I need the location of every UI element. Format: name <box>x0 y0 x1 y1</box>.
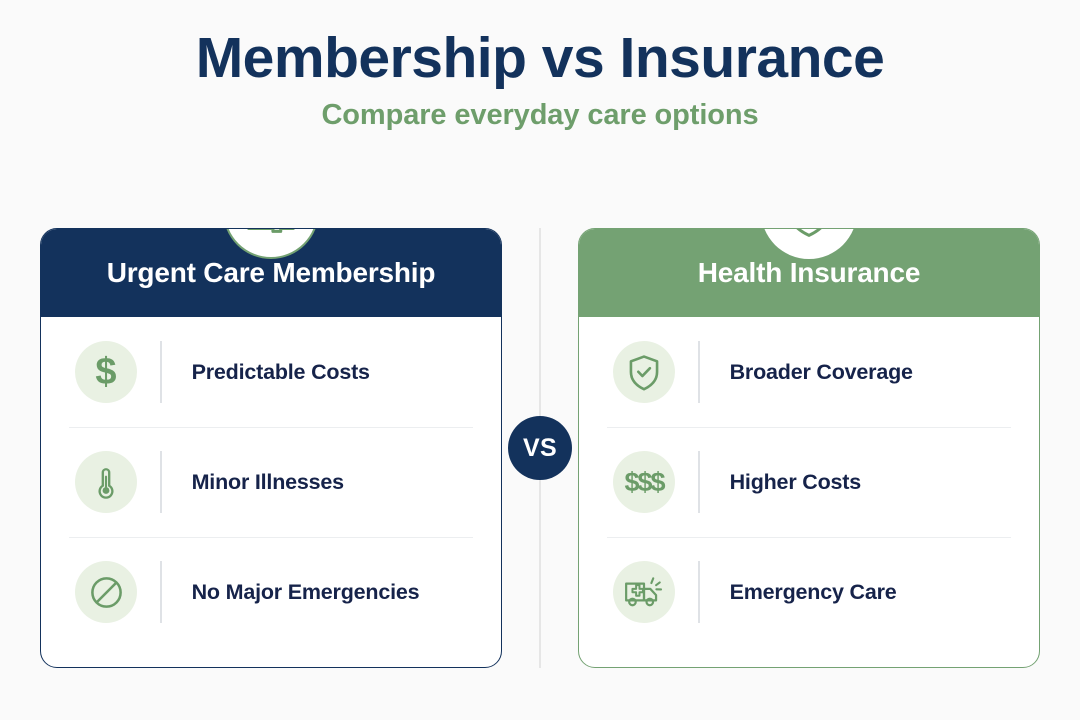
feature-separator <box>698 451 700 513</box>
prohibited-icon <box>75 561 137 623</box>
triple-dollar-glyph: $$$ <box>624 467 663 498</box>
page-title: Membership vs Insurance <box>0 28 1080 90</box>
feature-label: Minor Illnesses <box>192 470 344 495</box>
card-urgent-care-membership: Urgent Care Membership $ Predictable Cos… <box>40 228 502 668</box>
feature-list-health-insurance: Broader Coverage $$$ Higher Costs <box>579 317 1039 647</box>
feature-separator <box>160 341 162 403</box>
dollar-sign-glyph: $ <box>95 351 116 394</box>
page-subtitle: Compare everyday care options <box>0 99 1080 132</box>
feature-row: Minor Illnesses <box>67 427 475 537</box>
vs-badge: VS <box>508 416 572 480</box>
card-title: Urgent Care Membership <box>107 257 436 289</box>
dollar-sign-icon: $ <box>75 341 137 403</box>
feature-row: $$$ Higher Costs <box>605 427 1013 537</box>
shield-check-icon <box>613 341 675 403</box>
feature-label: No Major Emergencies <box>192 580 420 605</box>
feature-row: Broader Coverage <box>605 317 1013 427</box>
card-title: Health Insurance <box>698 257 920 289</box>
feature-label: Higher Costs <box>730 470 861 495</box>
feature-label: Emergency Care <box>730 580 897 605</box>
thermometer-icon <box>75 451 137 513</box>
feature-row: No Major Emergencies <box>67 537 475 647</box>
feature-separator <box>698 341 700 403</box>
feature-label: Broader Coverage <box>730 360 913 385</box>
feature-row: $ Predictable Costs <box>67 317 475 427</box>
vs-badge-label: VS <box>523 434 557 463</box>
feature-label: Predictable Costs <box>192 360 370 385</box>
page-header: Membership vs Insurance Compare everyday… <box>0 0 1080 132</box>
feature-separator <box>160 561 162 623</box>
feature-separator <box>160 451 162 513</box>
feature-list-urgent-care-membership: $ Predictable Costs Minor Illnesses <box>41 317 501 647</box>
feature-separator <box>698 561 700 623</box>
card-health-insurance: Health Insurance Broader Coverage $$$ <box>578 228 1040 668</box>
ambulance-icon <box>613 561 675 623</box>
feature-row: Emergency Care <box>605 537 1013 647</box>
triple-dollar-icon: $$$ <box>613 451 675 513</box>
